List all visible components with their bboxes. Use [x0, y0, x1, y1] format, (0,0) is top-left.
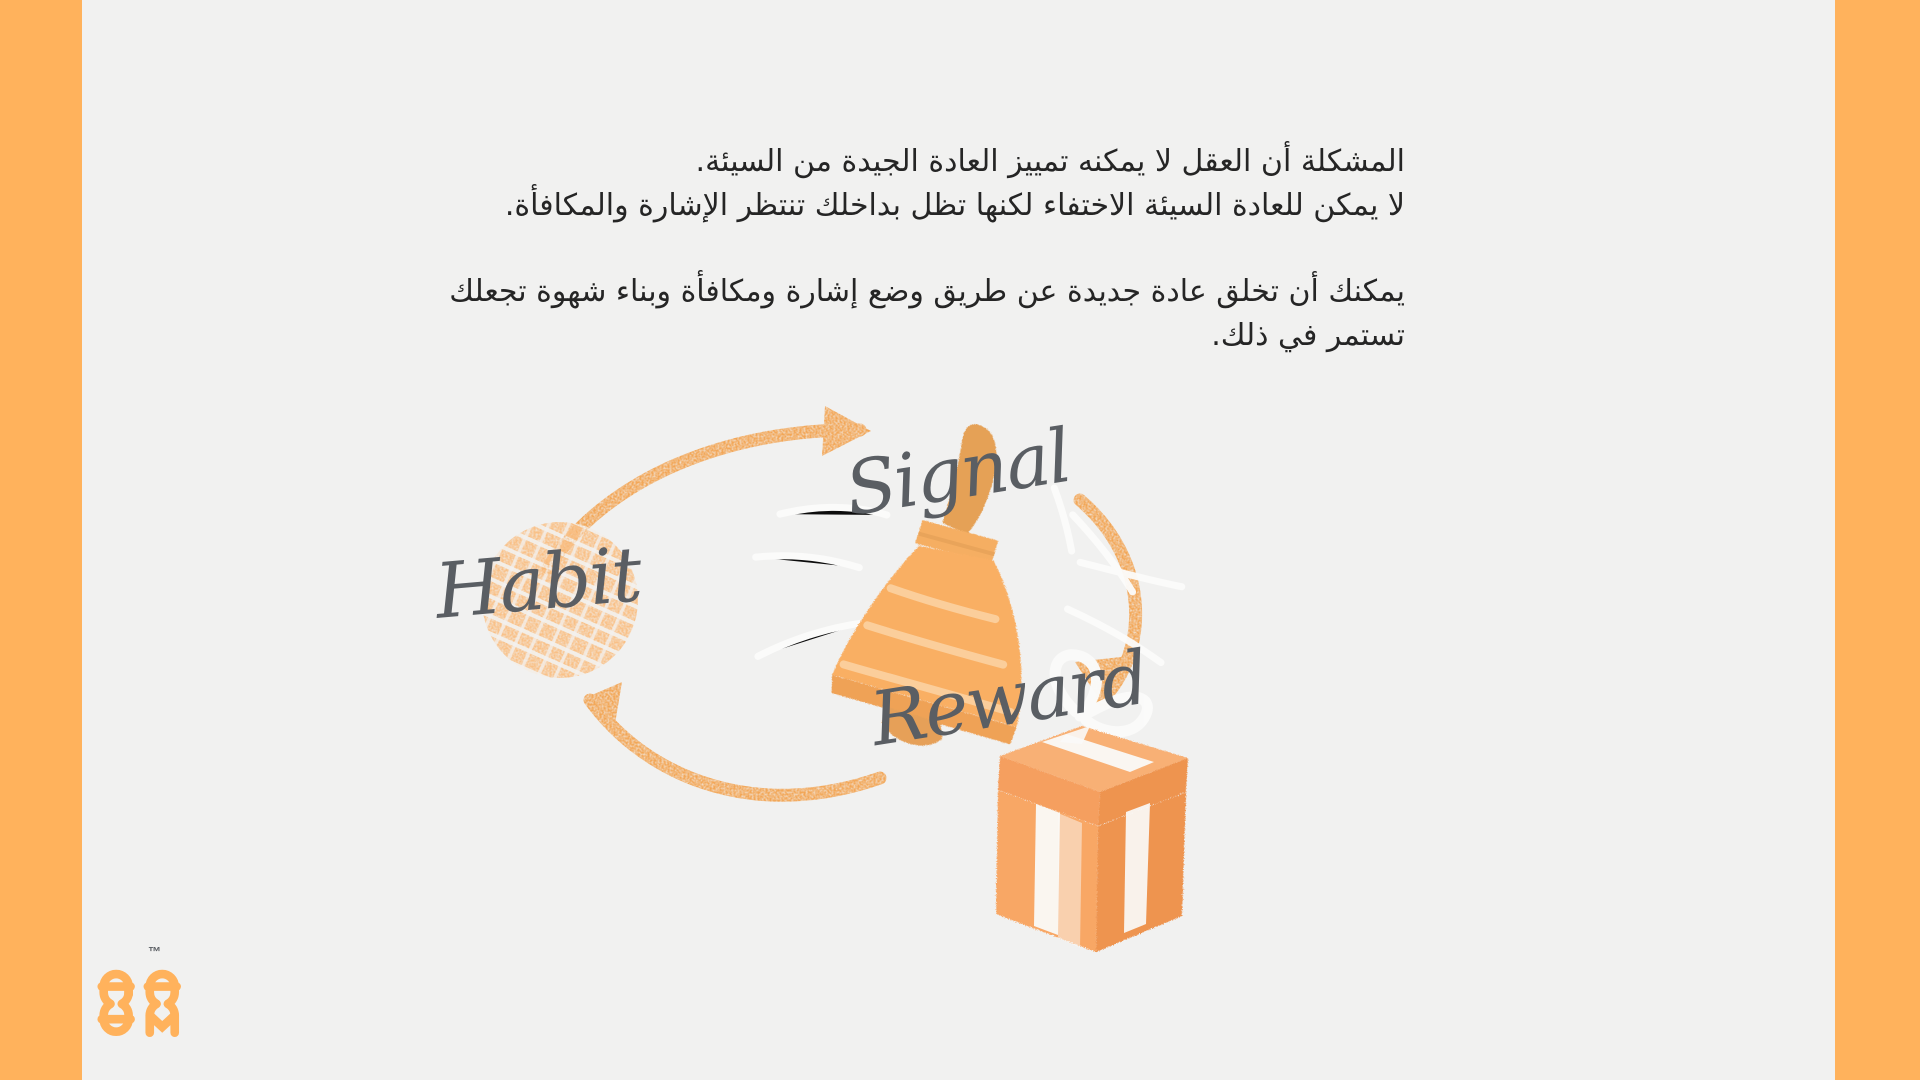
paragraph-1-line-1: المشكلة أن العقل لا يمكنه تمييز العادة ا… [330, 140, 1405, 184]
gift-box-icon [996, 655, 1188, 952]
slide-canvas: المشكلة أن العقل لا يمكنه تمييز العادة ا… [0, 0, 1920, 1080]
body-text-block: المشكلة أن العقل لا يمكنه تمييز العادة ا… [330, 140, 1405, 358]
paragraph-2-line-1: يمكنك أن تخلق عادة جديدة عن طريق وضع إشا… [330, 270, 1405, 314]
paragraph-2: يمكنك أن تخلق عادة جديدة عن طريق وضع إشا… [330, 270, 1405, 358]
hand-bell-icon [733, 397, 1200, 779]
habit-circle-icon [482, 522, 638, 678]
trademark-symbol: ™ [148, 944, 161, 959]
logo-glyph-3 [102, 1004, 131, 1032]
paragraph-1-line-2: لا يمكن للعادة السيئة الاختفاء لكنها تظل… [330, 184, 1405, 228]
left-accent-bar [0, 0, 82, 1080]
brand-logo [96, 952, 192, 1048]
paragraph-2-line-2: تستمر في ذلك. [330, 314, 1405, 358]
logo-glyph-4 [150, 1004, 175, 1033]
right-accent-bar [1835, 0, 1920, 1080]
paragraph-1: المشكلة أن العقل لا يمكنه تمييز العادة ا… [330, 140, 1405, 228]
logo-glyph-1 [102, 974, 131, 1004]
habit-loop-diagram: Signal Habit Reward [430, 400, 1430, 1000]
arrow-reward-to-habit [585, 682, 880, 795]
logo-glyph-2 [148, 974, 177, 1004]
